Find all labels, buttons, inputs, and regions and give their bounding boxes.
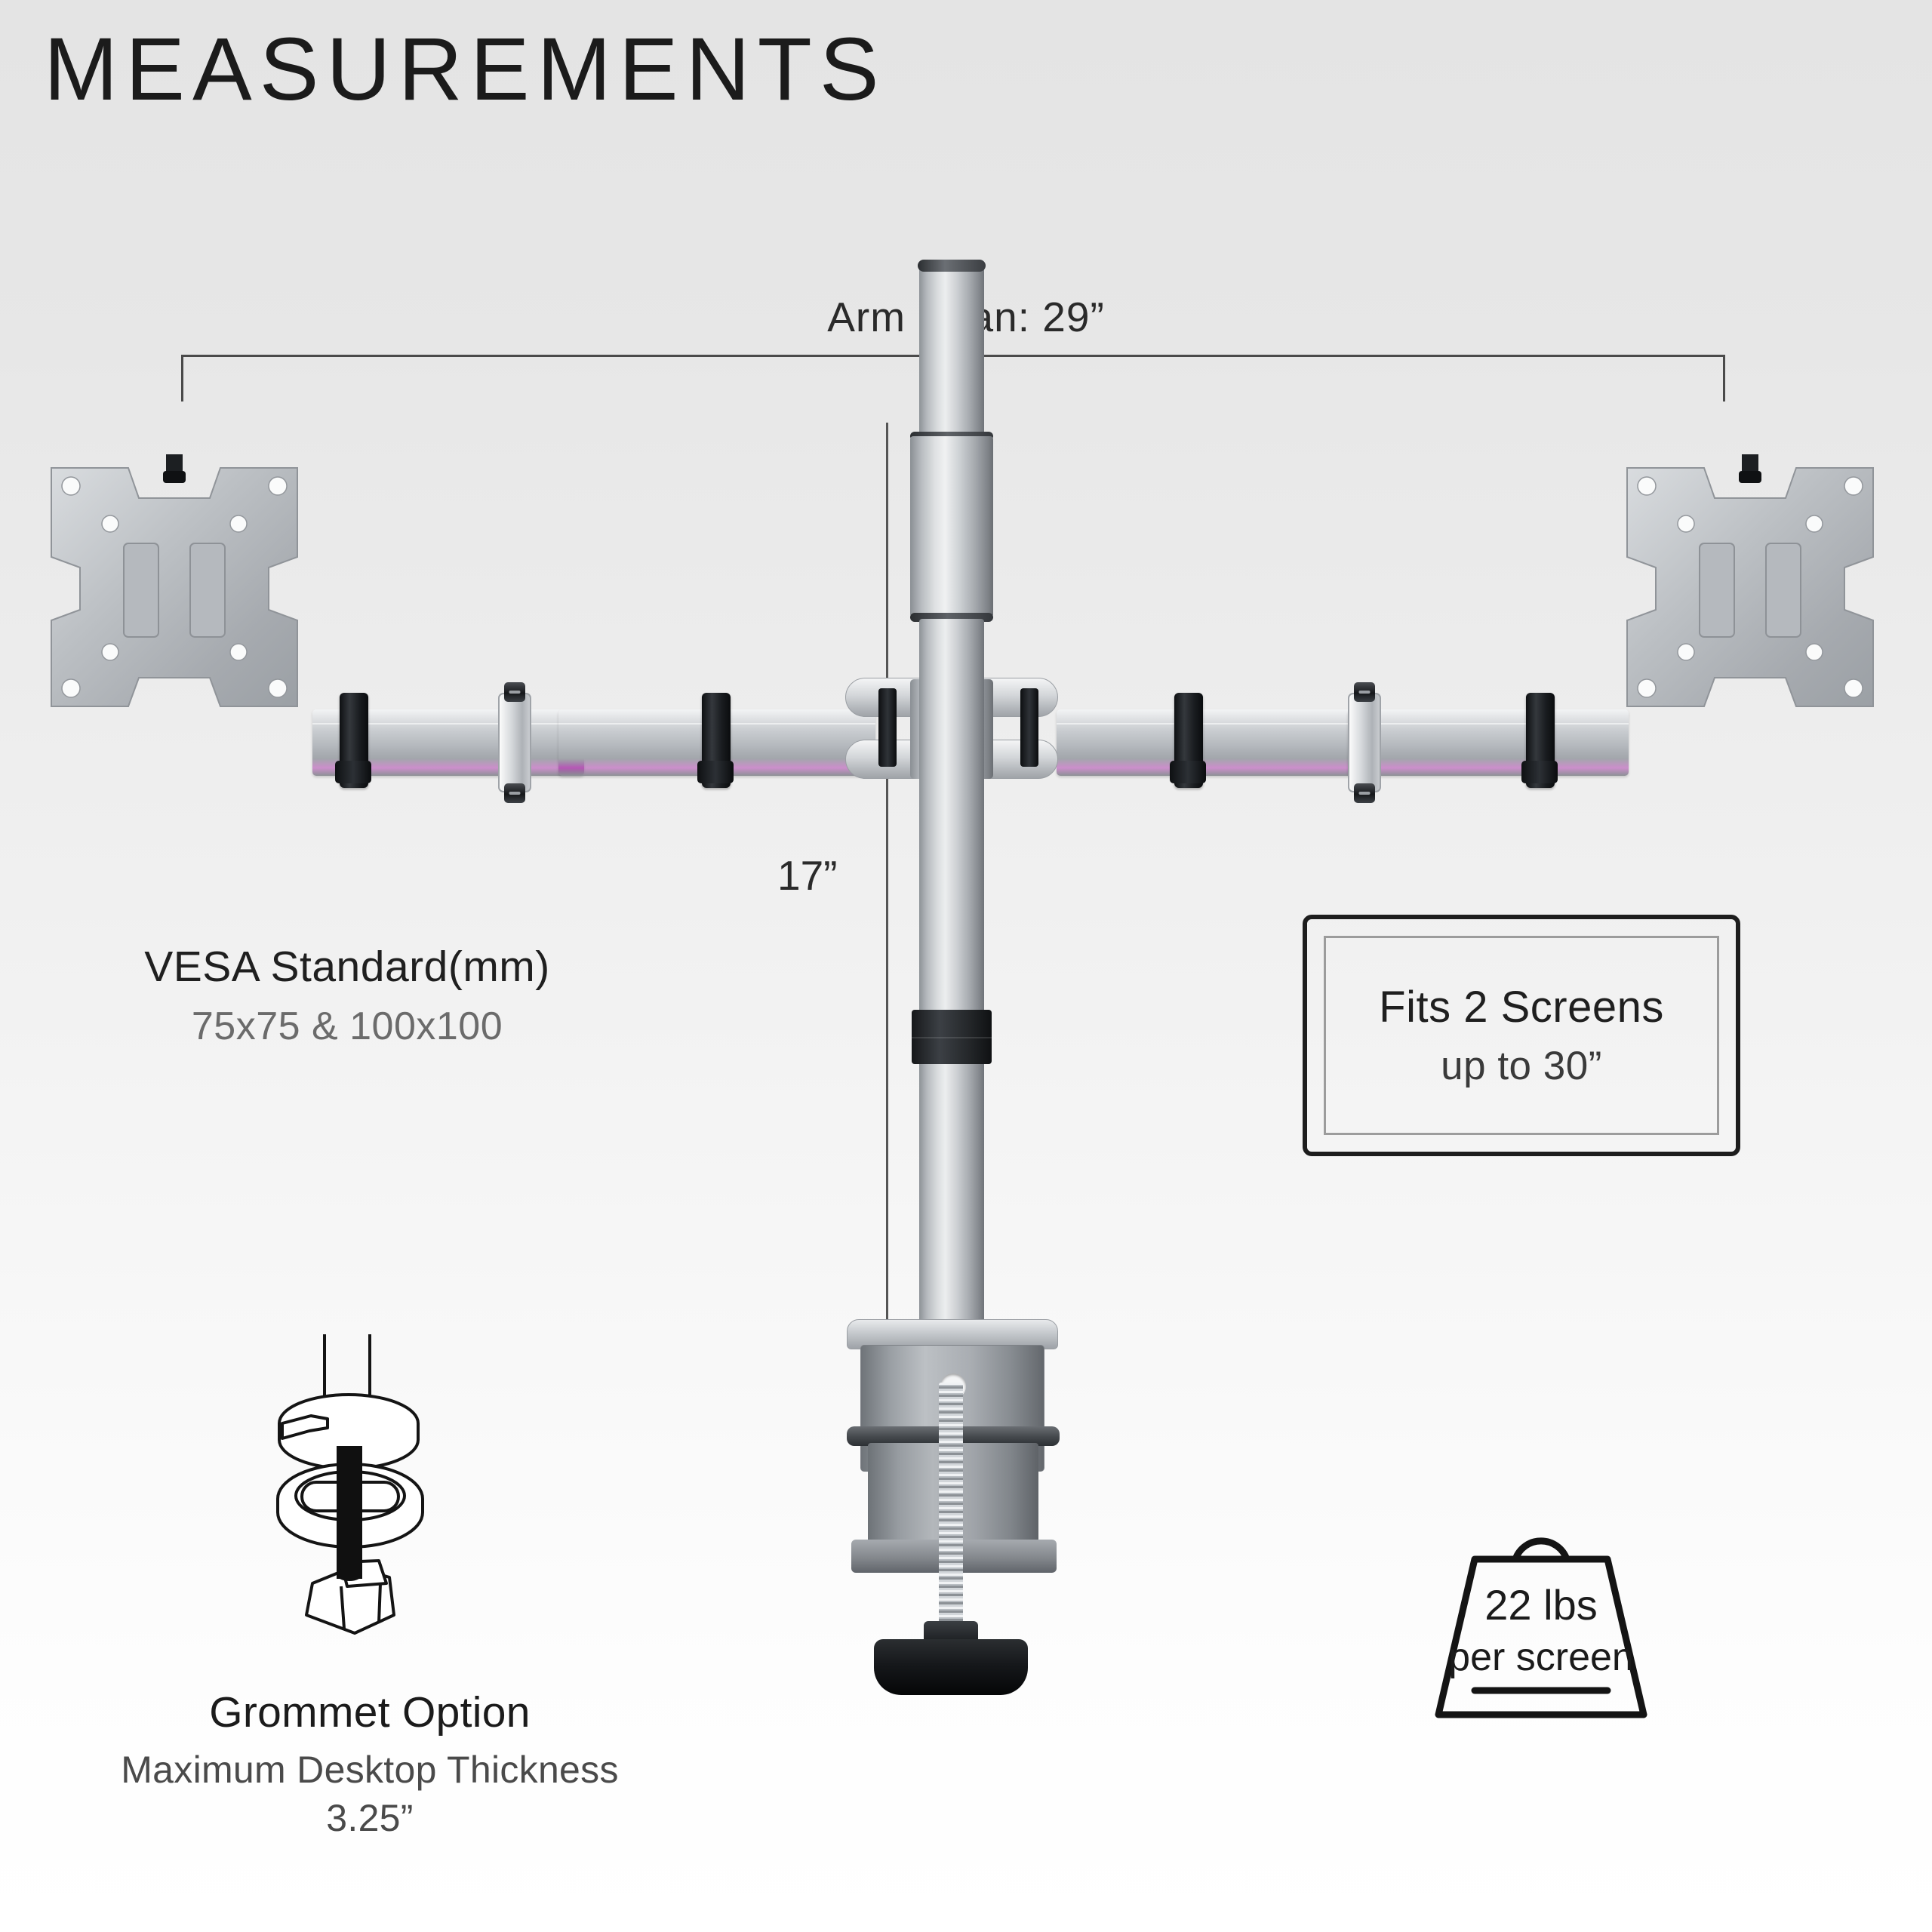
weight-per-screen: per screen [1405,1635,1677,1680]
pole-upper-section [919,263,984,451]
vesa-heading: VESA Standard(mm) [60,942,634,992]
pole-mid-section [910,436,993,617]
clamp-threaded-bolt [939,1383,963,1654]
cable-clip [1526,693,1555,788]
grommet-mount-illustration [266,1334,537,1666]
cable-clip [1174,693,1203,788]
arm-segment-right-inner [1057,709,1374,776]
weight-amount: 22 lbs [1405,1580,1677,1629]
grommet-thickness: 3.25” [30,1796,709,1840]
grommet-option-block: Grommet Option Maximum Desktop Thickness… [30,1687,709,1840]
page-title: MEASUREMENTS [44,18,887,121]
vesa-plate-right [1621,454,1879,720]
cable-clip [702,693,731,788]
fits-screens-callout: Fits 2 Screens up to 30” [1303,915,1740,1156]
arm-joint-right [1348,693,1381,792]
pole-lower-section [919,619,984,1328]
weight-capacity-callout: 22 lbs per screen [1405,1500,1677,1727]
arm-segment-right-outer [1348,709,1629,776]
vesa-plate-left [45,454,303,720]
arm-joint-left [498,693,531,792]
joint-screw-bottom-icon [1354,783,1375,803]
vesa-plate-icon [1621,454,1879,720]
cable-clip [340,693,368,788]
fits-screens-line1: Fits 2 Screens [1379,982,1664,1032]
hub-slot-right [1020,688,1038,767]
grommet-subtitle: Maximum Desktop Thickness [30,1748,709,1792]
vesa-plate-icon [45,454,303,720]
fits-screens-inner-frame: Fits 2 Screens up to 30” [1324,936,1719,1135]
joint-screw-bottom-icon [504,783,525,803]
hub-slot-left [878,688,897,767]
grommet-mount-icon [266,1334,537,1666]
joint-screw-top-icon [1354,682,1375,702]
clamp-knob [874,1639,1028,1695]
pole-top-cap [918,260,986,272]
grommet-heading: Grommet Option [30,1687,709,1737]
fits-screens-line2: up to 30” [1441,1043,1602,1089]
vesa-standard-block: VESA Standard(mm) 75x75 & 100x100 [60,942,634,1049]
pole-black-collar [912,1010,992,1064]
joint-screw-top-icon [504,682,525,702]
vesa-sizes: 75x75 & 100x100 [60,1004,634,1049]
